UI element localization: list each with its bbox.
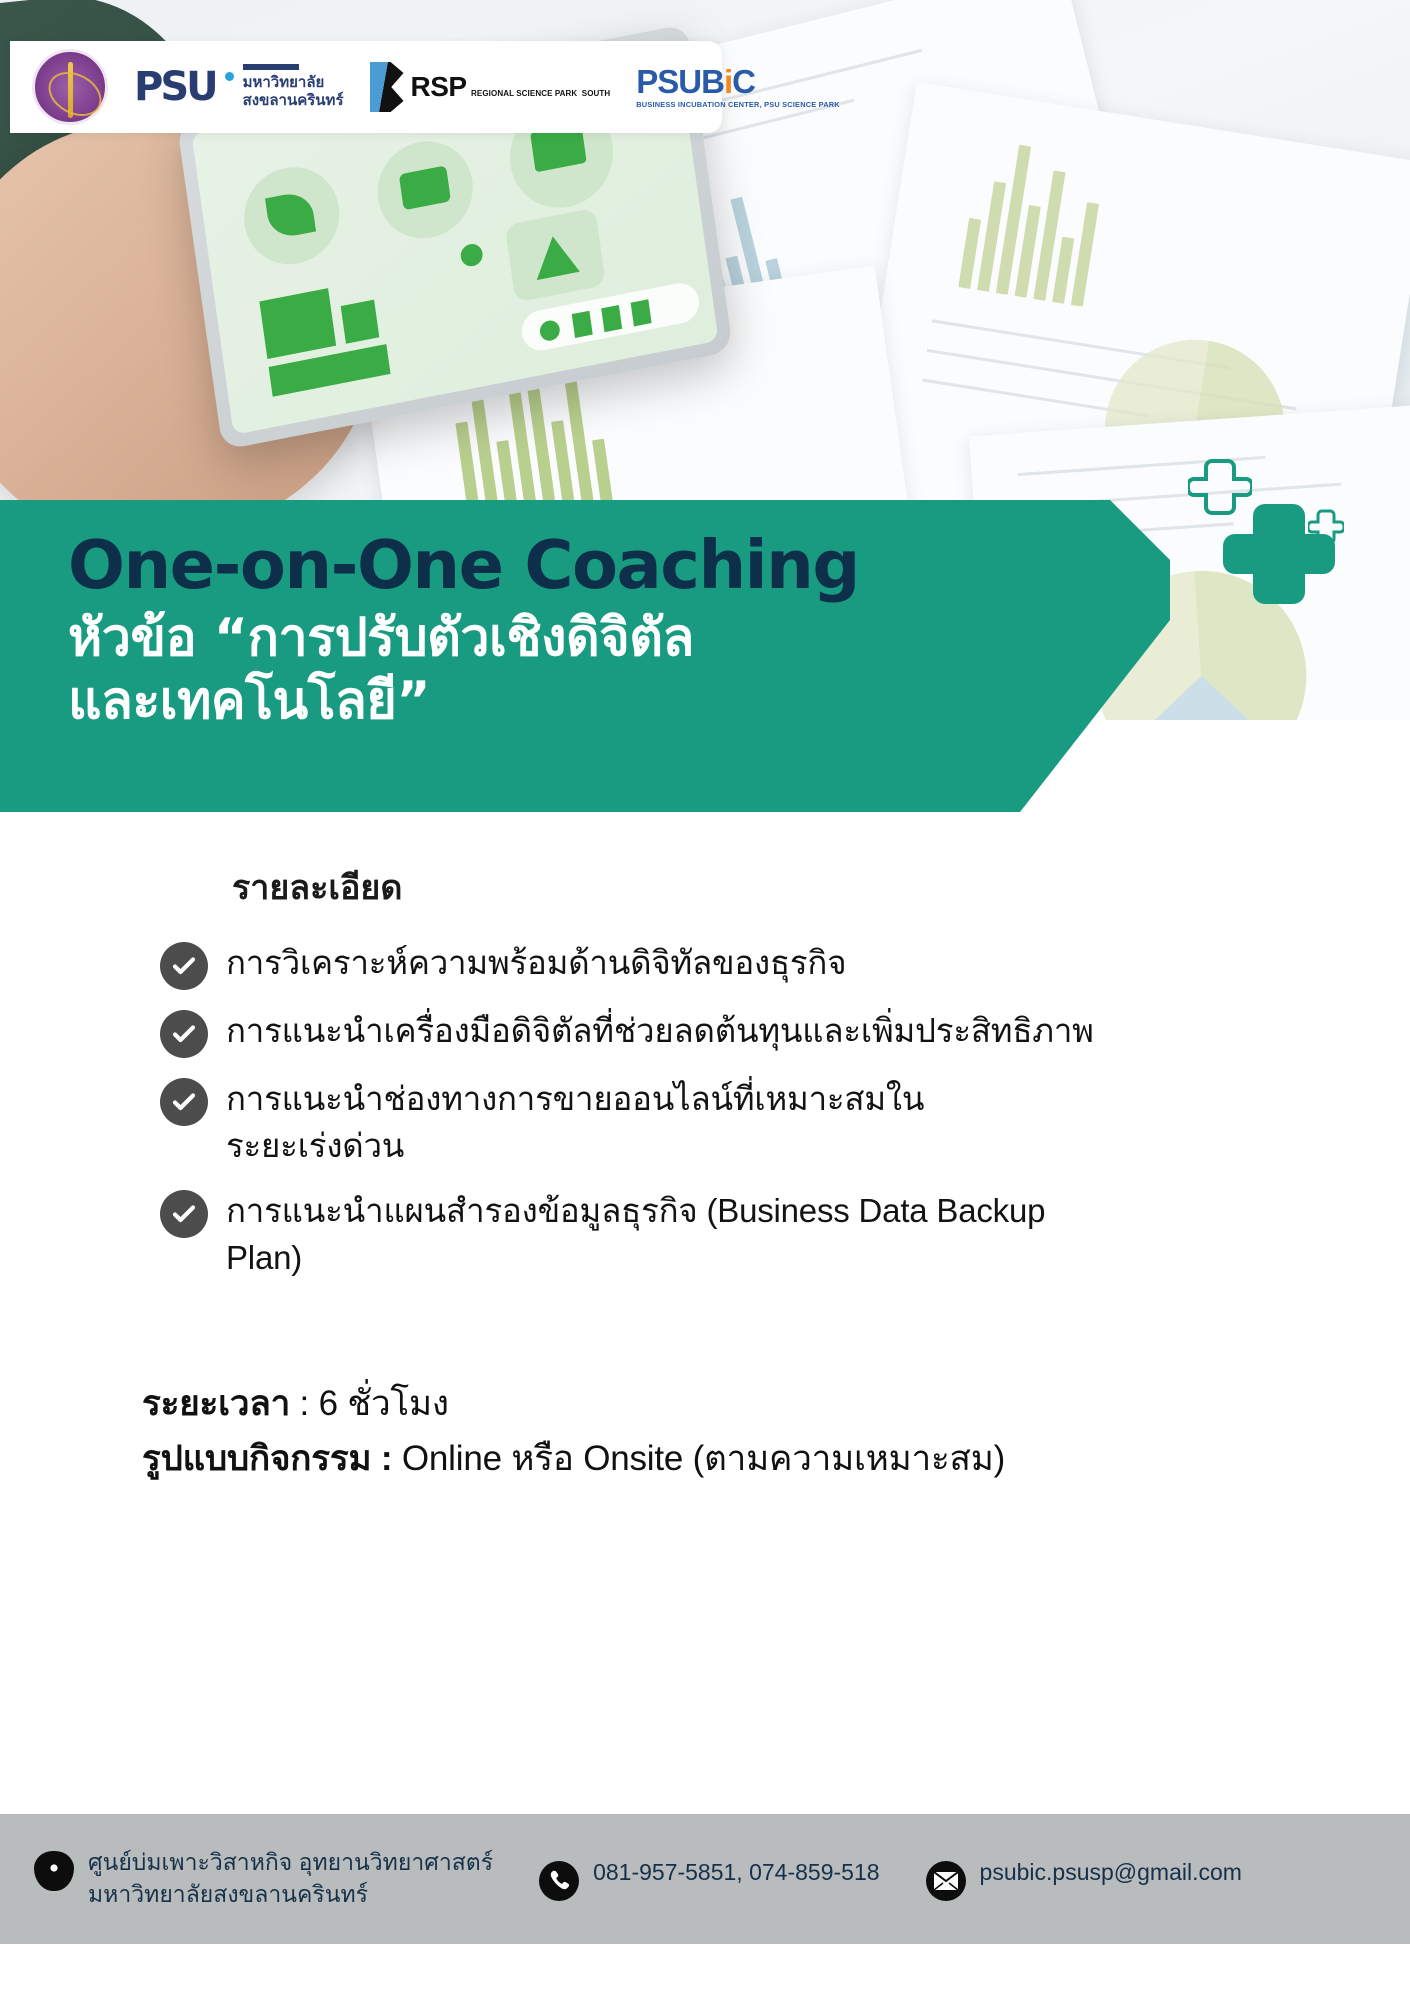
details-list: การวิเคราะห์ความพร้อมด้านดิจิทัลของธุรกิ… <box>160 940 1350 1281</box>
envelope-icon <box>926 1861 966 1901</box>
content-area: รายละเอียด การวิเคราะห์ความพร้อมด้านดิจิ… <box>0 860 1410 1486</box>
psu-dot-icon <box>225 72 234 81</box>
check-circle-icon <box>160 1010 208 1058</box>
footer-address-text: ศูนย์บ่มเพาะวิสาหกิจ อุทยานวิทยาศาสตร์ ม… <box>88 1847 493 1910</box>
banner-text-block: One-on-One Coaching หัวข้อ “การปรับตัวเช… <box>68 530 1068 734</box>
psu-thai-line2: สงขลานครินทร์ <box>243 92 344 109</box>
meta-block: ระยะเวลา : 6 ชั่วโมง รูปแบบกิจกรรม : Onl… <box>142 1377 1410 1486</box>
list-item-label: การแนะนำแผนสำรองข้อมูลธุรกิจ (Business D… <box>226 1188 1056 1282</box>
list-item-label: การแนะนำเครื่องมือดิจิตัลที่ช่วยลดต้นทุน… <box>226 1008 1094 1055</box>
duration-separator: : <box>290 1384 319 1423</box>
logo-strip: PSU มหาวิทยาลัย สงขลานครินทร์ RSP REGION… <box>10 41 722 133</box>
psubic-wordmark: PSUBiC <box>636 65 840 98</box>
location-pin-icon <box>34 1851 74 1891</box>
psubic-part-i: i <box>724 63 732 100</box>
list-item: การวิเคราะห์ความพร้อมด้านดิจิทัลของธุรกิ… <box>160 940 1350 990</box>
footer-email[interactable]: psubic.psusp@gmail.com <box>926 1857 1242 1901</box>
page-title: One-on-One Coaching <box>68 530 1068 601</box>
poster-root: PSU มหาวิทยาลัย สงขลานครินทร์ RSP REGION… <box>0 0 1410 2000</box>
rsp-glyph-icon <box>370 62 404 112</box>
duration-label: ระยะเวลา <box>142 1384 290 1423</box>
psu-seal-icon <box>32 49 108 125</box>
footer-phone[interactable]: 081-957-5851, 074-859-518 <box>539 1857 879 1901</box>
rsp-text-block: RSP REGIONAL SCIENCE PARK SOUTH <box>411 74 611 101</box>
psubic-logo: PSUBiC BUSINESS INCUBATION CENTER, PSU S… <box>636 65 840 109</box>
rsp-logo: RSP REGIONAL SCIENCE PARK SOUTH <box>370 62 611 112</box>
format-separator: : <box>371 1439 402 1478</box>
psubic-part-a: PSUB <box>636 63 724 100</box>
footer-bar: ศูนย์บ่มเพาะวิสาหกิจ อุทยานวิทยาศาสตร์ ม… <box>0 1814 1410 1944</box>
check-circle-icon <box>160 1190 208 1238</box>
format-row: รูปแบบกิจกรรม : Online หรือ Onsite (ตามค… <box>142 1432 1410 1486</box>
phone-icon <box>539 1861 579 1901</box>
psu-wordmark-logo: PSU มหาวิทยาลัย สงขลานครินทร์ <box>134 64 344 109</box>
psu-rule-divider <box>243 64 299 70</box>
list-item: การแนะนำเครื่องมือดิจิตัลที่ช่วยลดต้นทุน… <box>160 1008 1350 1058</box>
footer-phone-text: 081-957-5851, 074-859-518 <box>593 1857 879 1889</box>
psu-thai-name: มหาวิทยาลัย สงขลานครินทร์ <box>243 64 344 109</box>
details-heading: รายละเอียด <box>232 860 1410 914</box>
format-label: รูปแบบกิจกรรม <box>142 1439 371 1478</box>
psubic-part-c: C <box>732 63 755 100</box>
footer-address-line1: ศูนย์บ่มเพาะวิสาหกิจ อุทยานวิทยาศาสตร์ <box>88 1849 493 1875</box>
title-banner: One-on-One Coaching หัวข้อ “การปรับตัวเช… <box>0 500 1170 812</box>
rsp-abbr: RSP <box>411 71 467 102</box>
banner-subtitle: หัวข้อ “การปรับตัวเชิงดิจิตัล และเทคโนโล… <box>68 607 1068 734</box>
duration-value: 6 ชั่วโมง <box>319 1384 449 1423</box>
list-item-label: การวิเคราะห์ความพร้อมด้านดิจิทัลของธุรกิ… <box>226 940 846 987</box>
footer-address: ศูนย์บ่มเพาะวิสาหกิจ อุทยานวิทยาศาสตร์ ม… <box>34 1847 493 1910</box>
rsp-line1: REGIONAL SCIENCE PARK <box>471 89 577 98</box>
check-circle-icon <box>160 1078 208 1126</box>
footer-email-text: psubic.psusp@gmail.com <box>980 1857 1242 1889</box>
psubic-tagline: BUSINESS INCUBATION CENTER, PSU SCIENCE … <box>636 100 840 109</box>
banner-subtitle-line1: หัวข้อ “การปรับตัวเชิงดิจิตัล <box>68 608 694 668</box>
plus-outline-small-icon <box>1308 508 1344 544</box>
duration-row: ระยะเวลา : 6 ชั่วโมง <box>142 1377 1410 1431</box>
format-value: Online หรือ Onsite (ตามความเหมาะสม) <box>402 1439 1005 1478</box>
rsp-line2: SOUTH <box>582 89 611 98</box>
psu-mark-text: PSU <box>134 69 216 105</box>
footer-address-line2: มหาวิทยาลัยสงขลานครินทร์ <box>88 1879 493 1911</box>
list-item-label: การแนะนำช่องทางการขายออนไลน์ที่เหมาะสมใน… <box>226 1076 986 1170</box>
banner-subtitle-line2: และเทคโนโลยี” <box>68 671 430 731</box>
list-item: การแนะนำช่องทางการขายออนไลน์ที่เหมาะสมใน… <box>160 1076 1350 1170</box>
psu-thai-line1: มหาวิทยาลัย <box>243 74 325 91</box>
check-circle-icon <box>160 942 208 990</box>
list-item: การแนะนำแผนสำรองข้อมูลธุรกิจ (Business D… <box>160 1188 1350 1282</box>
